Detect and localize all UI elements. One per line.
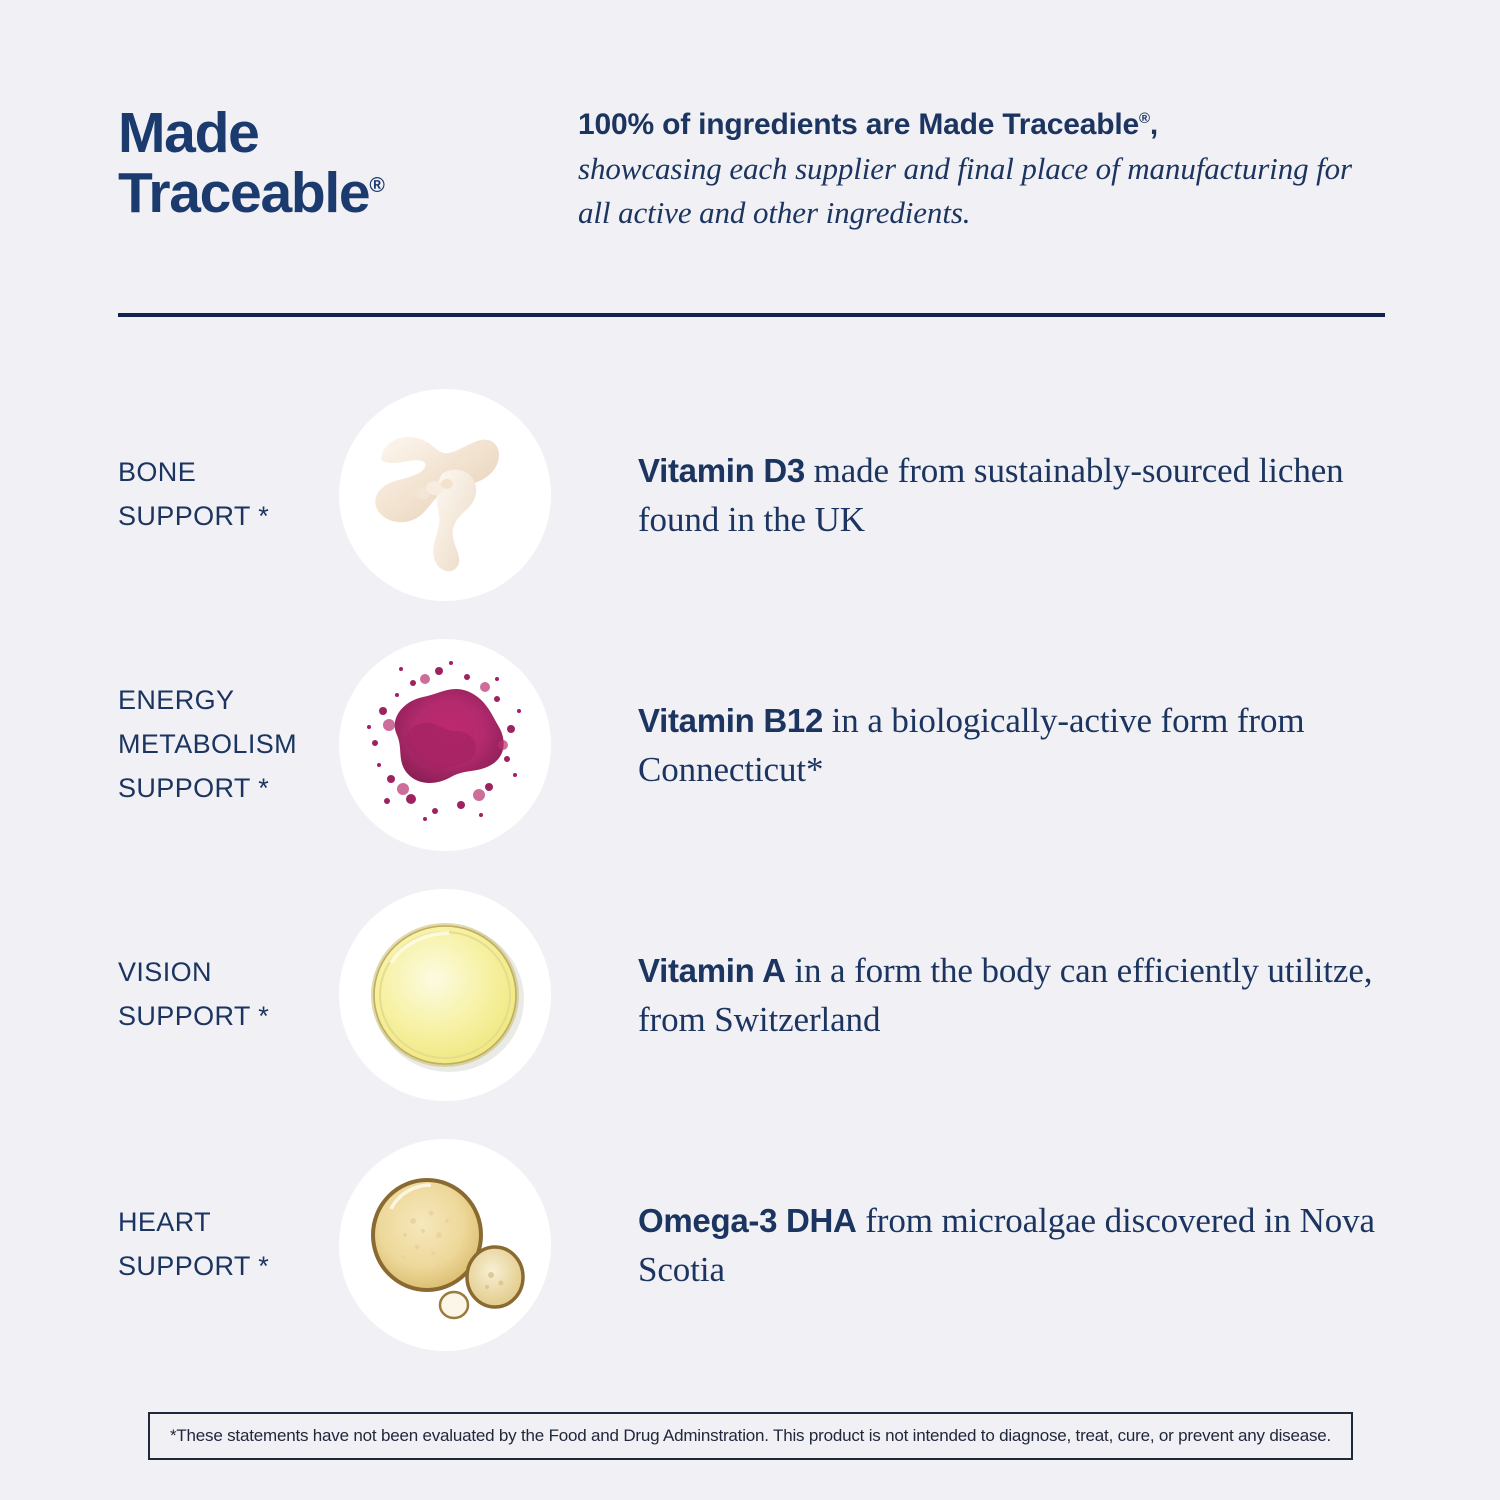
- yellow-oil-dish-icon: [339, 889, 551, 1101]
- page-title: Made Traceable®: [118, 103, 385, 224]
- golden-oil-droplets-icon: [339, 1139, 551, 1351]
- benefit-media: [320, 389, 570, 601]
- golden-oil-droplets-swatch: [339, 1139, 551, 1351]
- benefit-description: Vitamin A in a form the body can efficie…: [570, 946, 1500, 1044]
- made-traceable-infographic: Made Traceable® 100% of ingredients are …: [0, 0, 1500, 1500]
- benefit-label: VISION SUPPORT *: [0, 951, 320, 1038]
- benefit-row: ENERGY METABOLISM SUPPORT *: [0, 620, 1500, 870]
- benefit-highlight: Vitamin B12: [638, 702, 823, 739]
- benefit-media: [320, 639, 570, 851]
- header-lead-line: 100% of ingredients are Made Traceable®,: [578, 105, 1390, 145]
- header-copy: 100% of ingredients are Made Traceable®,…: [568, 95, 1390, 235]
- cream-swirl-icon: [339, 389, 551, 601]
- benefit-row: BONE SUPPORT *: [0, 370, 1500, 620]
- disclaimer-box: *These statements have not been evaluate…: [148, 1412, 1353, 1460]
- brand-block: Made Traceable®: [118, 95, 568, 224]
- registered-trademark-icon: ®: [369, 174, 384, 197]
- magenta-powder-icon: [339, 639, 551, 851]
- benefit-label: ENERGY METABOLISM SUPPORT *: [0, 679, 320, 810]
- header-lead-trailing: ,: [1150, 108, 1158, 141]
- benefit-description: Omega-3 DHA from microalgae discovered i…: [570, 1196, 1500, 1294]
- header-divider: [118, 313, 1385, 317]
- benefit-row: HEART SUPPORT *: [0, 1120, 1500, 1370]
- header-sub-line: showcasing each supplier and final place…: [578, 147, 1390, 235]
- brand-title-text: Made Traceable: [118, 101, 369, 225]
- cream-swirl-swatch: [339, 389, 551, 601]
- disclaimer-text: *These statements have not been evaluate…: [170, 1426, 1331, 1446]
- benefit-highlight: Vitamin D3: [638, 452, 805, 489]
- magenta-powder-swatch: [339, 639, 551, 851]
- benefit-highlight: Omega-3 DHA: [638, 1202, 857, 1239]
- benefit-row: VISION SUPPORT *: [0, 870, 1500, 1120]
- benefit-description: Vitamin D3 made from sustainably-sourced…: [570, 446, 1500, 544]
- benefit-label: BONE SUPPORT *: [0, 451, 320, 538]
- header: Made Traceable® 100% of ingredients are …: [118, 95, 1390, 235]
- benefit-media: [320, 1139, 570, 1351]
- benefit-rows: BONE SUPPORT *: [0, 370, 1500, 1370]
- benefit-media: [320, 889, 570, 1101]
- header-lead-text: 100% of ingredients are Made Traceable: [578, 108, 1139, 141]
- benefit-label: HEART SUPPORT *: [0, 1201, 320, 1288]
- benefit-description: Vitamin B12 in a biologically-active for…: [570, 696, 1500, 794]
- yellow-oil-dish-swatch: [339, 889, 551, 1101]
- registered-trademark-icon: ®: [1139, 110, 1150, 127]
- benefit-highlight: Vitamin A: [638, 952, 786, 989]
